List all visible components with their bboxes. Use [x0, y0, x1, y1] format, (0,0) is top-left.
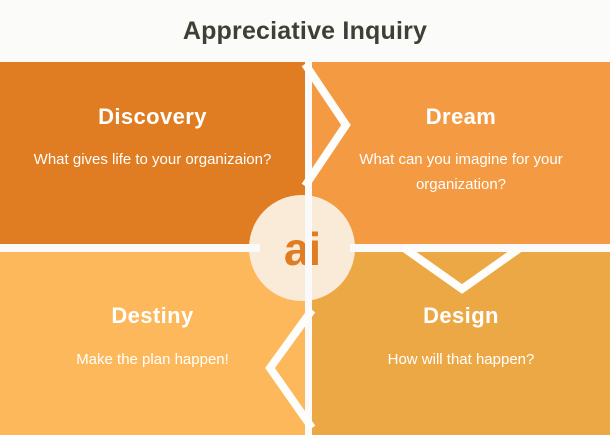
quadrant-design-description: How will that happen?: [388, 348, 535, 373]
appreciative-inquiry-diagram: Appreciative Inquiry Discovery What give…: [0, 0, 610, 435]
quadrant-destiny-title: Destiny: [111, 303, 193, 329]
quadrant-dream-description: What can you imagine for your organizati…: [341, 148, 581, 198]
page-title: Appreciative Inquiry: [183, 17, 427, 46]
quadrant-discovery-description: What gives life to your organizaion?: [34, 148, 272, 173]
quadrant-dream[interactable]: Dream What can you imagine for your orga…: [312, 62, 610, 244]
center-label: ai: [284, 226, 320, 272]
center-circle: ai: [249, 195, 355, 301]
quadrant-destiny-description: Make the plan happen!: [76, 348, 229, 373]
quadrant-design[interactable]: Design How will that happen?: [312, 252, 610, 435]
quadrant-dream-title: Dream: [426, 104, 496, 130]
title-bar: Appreciative Inquiry: [0, 0, 610, 62]
quadrant-design-title: Design: [423, 303, 499, 329]
quadrant-discovery-title: Discovery: [98, 104, 207, 130]
